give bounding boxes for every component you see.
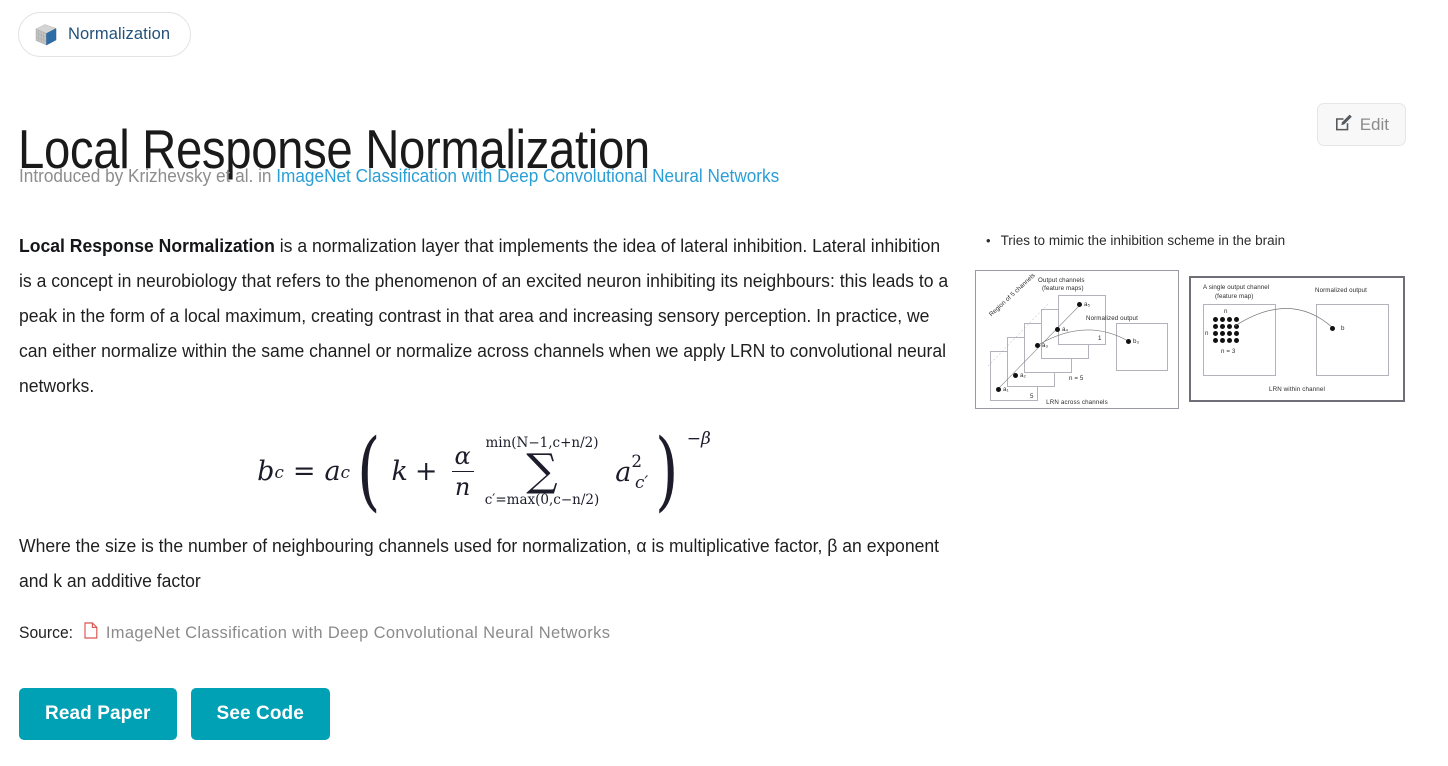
read-paper-button[interactable]: Read Paper: [19, 688, 177, 740]
page-root: Normalization Local Response Normalizati…: [0, 0, 1448, 766]
figure-left-index-top: 1: [1098, 335, 1102, 343]
pencil-square-icon: [1334, 113, 1353, 137]
figure-dot-a4: [1055, 327, 1060, 332]
formula-exponent: −β: [687, 429, 711, 449]
subtitle: Introduced by Krizhevsky et al. in Image…: [19, 165, 779, 187]
subtitle-paper-link[interactable]: ImageNet Classification with Deep Convol…: [276, 165, 779, 186]
figure-panel-within-channel: A single output channel (feature map) No…: [1189, 276, 1405, 402]
figure-right-dot-b: [1330, 326, 1335, 331]
file-icon: [84, 622, 98, 644]
figure-left-n-value: n = 5: [1069, 375, 1083, 383]
formula-term-sub: c′: [635, 472, 648, 492]
formula-frac-num: α: [452, 442, 474, 471]
figure-right-caption: LRN within channel: [1191, 386, 1403, 393]
formula-lhs-sub: c: [274, 462, 283, 482]
figure-left-normalized-output: Normalized output: [1086, 315, 1138, 323]
formula-equals: =: [293, 456, 316, 487]
after-formula-paragraph: Where the size is the number of neighbou…: [19, 528, 950, 598]
figure-dot-a2: [1013, 373, 1018, 378]
formula-term: a2c′: [615, 451, 648, 491]
bullet-dot-icon: •: [986, 232, 991, 249]
formula-sigma: ∑: [526, 451, 557, 491]
tag-label: Normalization: [68, 25, 170, 44]
formula-close-paren: ): [655, 441, 678, 503]
edit-button-label: Edit: [1360, 115, 1389, 135]
action-buttons: Read Paper See Code: [19, 688, 330, 740]
bullet-text: Tries to mimic the inhibition scheme in …: [1001, 232, 1286, 250]
formula-summation: min(N−1,c+n/2) ∑ c′=max(0,c−n/2): [485, 435, 600, 507]
figure-label-a3: a₃: [1042, 342, 1048, 350]
tag-pill-normalization[interactable]: Normalization: [18, 12, 191, 57]
figure-dot-a5: [1077, 302, 1082, 307]
formula-k: k: [392, 456, 408, 487]
right-column: • Tries to mimic the inhibition scheme i…: [975, 232, 1415, 409]
formula-a: a: [324, 456, 340, 487]
figure-dot-b3: [1126, 339, 1131, 344]
intro-rest: is a normalization layer that implements…: [19, 235, 948, 396]
formula-a-sub: c: [341, 462, 350, 482]
subtitle-prefix: Introduced by Krizhevsky et al. in: [19, 165, 276, 186]
formula-open-paren: (: [357, 441, 380, 503]
figure-dot-a3: [1035, 343, 1040, 348]
intro-lead: Local Response Normalization: [19, 235, 275, 256]
figure-label-a5: a₅: [1084, 301, 1090, 309]
formula-fraction: α n: [452, 442, 474, 501]
formula-block: bc = ac ( k + α n min(N−1,c+n/2) ∑ c′=ma…: [19, 419, 949, 524]
figure-label-a1: a₁: [1003, 386, 1009, 394]
figure-dot-a1: [996, 387, 1001, 392]
formula-term-sup: 2: [631, 451, 642, 471]
source-line: Source: ImageNet Classification with Dee…: [19, 622, 610, 644]
formula-term-base: a: [615, 458, 631, 489]
lrn-figure: Output channels (feature maps) Region of…: [975, 270, 1415, 409]
figure-panel-across-channels: Output channels (feature maps) Region of…: [975, 270, 1179, 409]
bullet-item: • Tries to mimic the inhibition scheme i…: [975, 232, 1415, 250]
figure-right-label-b: b: [1341, 325, 1345, 333]
body-column: Local Response Normalization is a normal…: [19, 228, 949, 598]
cube-icon: [33, 22, 59, 48]
formula-plus: +: [415, 456, 438, 487]
see-code-button[interactable]: See Code: [191, 688, 330, 740]
intro-paragraph: Local Response Normalization is a normal…: [19, 228, 950, 403]
figure-left-caption: LRN across channels: [976, 399, 1178, 406]
source-paper-link[interactable]: ImageNet Classification with Deep Convol…: [106, 624, 610, 643]
source-label: Source:: [19, 624, 73, 643]
formula-frac-den: n: [452, 472, 473, 501]
figure-label-a2: a₂: [1020, 372, 1026, 380]
figure-label-b3: b₃: [1133, 338, 1139, 346]
formula-lhs: b: [257, 456, 274, 487]
formula-sum-lower: c′=max(0,c−n/2): [485, 492, 600, 508]
edit-button[interactable]: Edit: [1317, 103, 1406, 146]
figure-label-a4: a₄: [1062, 326, 1068, 334]
